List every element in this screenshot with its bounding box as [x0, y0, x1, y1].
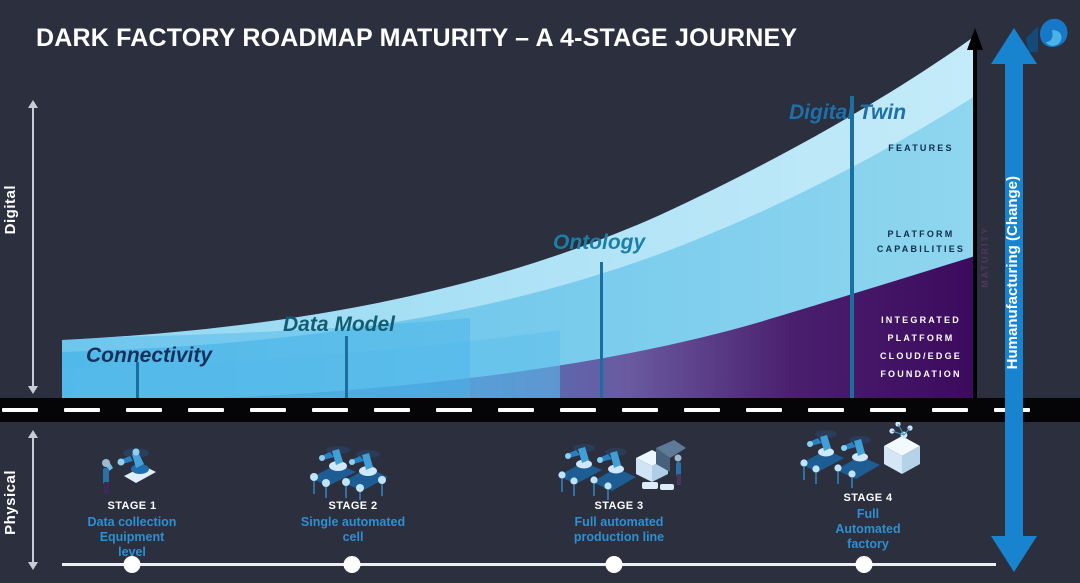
- stage-1[interactable]: STAGE 1 Data collection Equipment level: [37, 438, 227, 560]
- curve-label-data-model: Data Model: [283, 313, 395, 337]
- stage-2-marker[interactable]: [344, 556, 361, 573]
- stage-2-number: STAGE 2: [258, 500, 448, 512]
- stage-4-desc: Full Automated factory: [773, 507, 963, 552]
- physical-axis-arrow-bottom: [28, 562, 38, 570]
- stage-1-desc-line1: Data collection: [37, 515, 227, 530]
- physical-axis-line: [32, 436, 34, 564]
- stage-2-desc: Single automated cell: [258, 515, 448, 545]
- axis-label-physical: Physical: [2, 470, 19, 535]
- robot-arm-operator-icon: [37, 438, 227, 500]
- digital-axis-line: [32, 106, 34, 388]
- block-features: FEATURES: [866, 141, 976, 156]
- stage-2-desc-line2: cell: [258, 530, 448, 545]
- block-cloud-edge: CLOUD/EDGE: [864, 349, 978, 364]
- stage-1-desc-line2: Equipment: [37, 530, 227, 545]
- stage-2-stem: [345, 336, 348, 398]
- digital-axis-arrow-bottom: [28, 386, 38, 394]
- humanufacturing-label: Humanufacturing (Change): [1004, 176, 1021, 369]
- stage-3-desc-line2: production line: [524, 530, 714, 545]
- stage-4-desc-line1: Full: [773, 507, 963, 522]
- axis-label-digital: Digital: [2, 185, 19, 234]
- stage-3[interactable]: STAGE 3 Full automated production line: [524, 438, 714, 545]
- maturity-ghost-label: MATURITY: [980, 226, 990, 288]
- stage-4[interactable]: STAGE 4 Full Automated factory: [773, 430, 963, 552]
- curve-label-ontology: Ontology: [553, 231, 645, 255]
- production-line-icon: [524, 438, 714, 500]
- block-capabilities: CAPABILITIES: [861, 242, 981, 257]
- physical-digital-divider-road: [0, 398, 1080, 422]
- stage-3-number: STAGE 3: [524, 500, 714, 512]
- block-foundation: FOUNDATION: [864, 367, 978, 382]
- block-platform-2: PLATFORM: [866, 331, 976, 346]
- stage-3-stem: [600, 262, 603, 398]
- stage-3-marker[interactable]: [606, 556, 623, 573]
- stage-4-marker[interactable]: [856, 556, 873, 573]
- stage-1-desc: Data collection Equipment level: [37, 515, 227, 560]
- robot-cell-icon: [258, 438, 448, 500]
- roadmap-infographic: DARK FACTORY ROADMAP MATURITY – A 4-STAG…: [0, 0, 1080, 583]
- stage-4-stem: [851, 124, 854, 398]
- curve-label-connectivity: Connectivity: [86, 344, 212, 368]
- stage-4-desc-line2: Automated: [773, 522, 963, 537]
- stage-4-desc-line3: factory: [773, 537, 963, 552]
- stage-1-number: STAGE 1: [37, 500, 227, 512]
- stage-4-number: STAGE 4: [773, 492, 963, 504]
- automated-factory-icon: [773, 430, 963, 492]
- stage-1-marker[interactable]: [124, 556, 141, 573]
- block-integrated: INTEGRATED: [866, 313, 976, 328]
- stage-3-desc: Full automated production line: [524, 515, 714, 545]
- curve-label-digital-twin: Digital Twin: [789, 101, 906, 125]
- stage-2-desc-line1: Single automated: [258, 515, 448, 530]
- stage-3-desc-line1: Full automated: [524, 515, 714, 530]
- stage-2[interactable]: STAGE 2 Single automated cell: [258, 438, 448, 545]
- block-platform: PLATFORM: [866, 227, 976, 242]
